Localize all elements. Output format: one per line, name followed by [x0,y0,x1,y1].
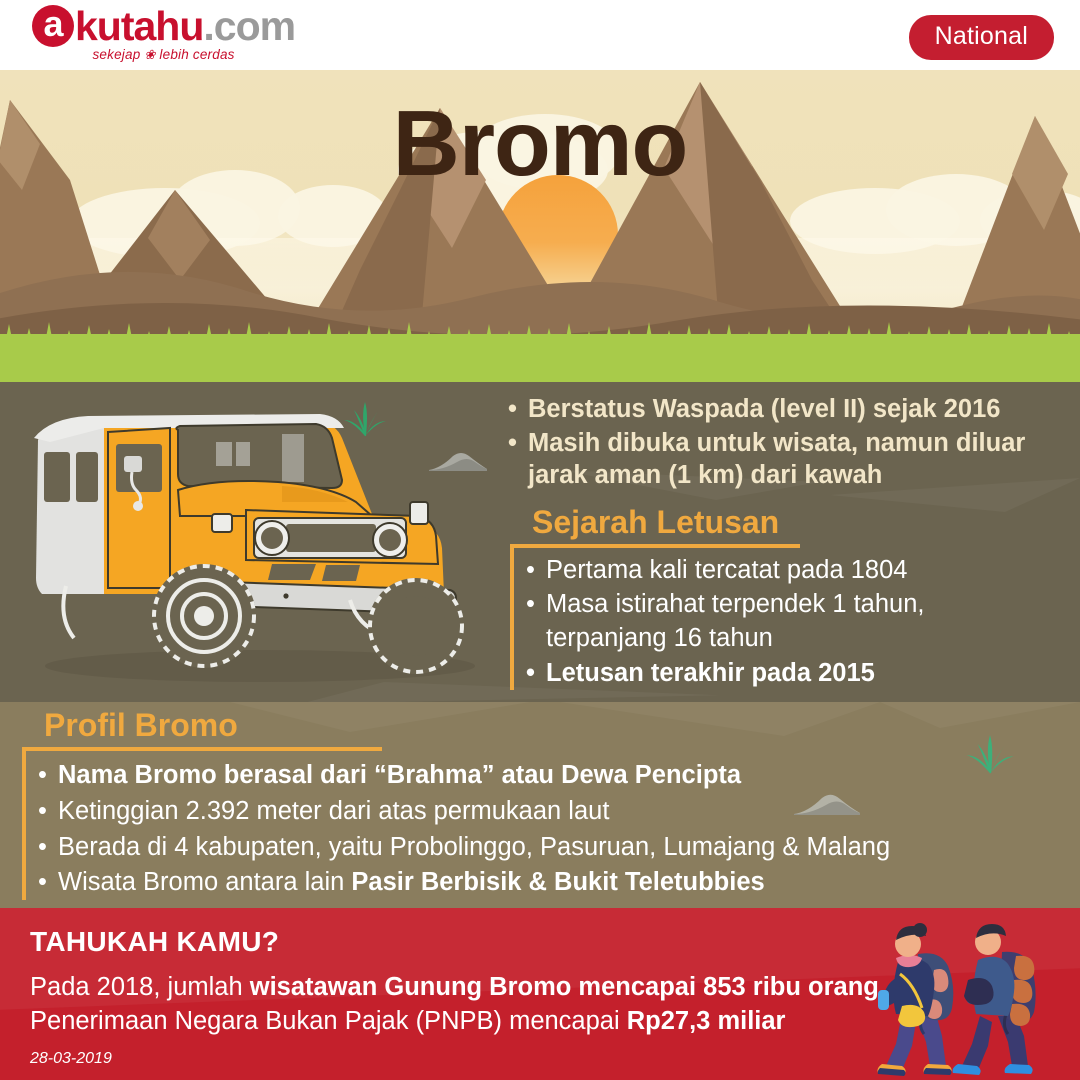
logo-name-grey: .com [203,3,295,50]
profil-item: • Berada di 4 kabupaten, yaitu Proboling… [38,831,382,865]
footer-text-part: Pada 2018, jumlah [30,973,250,1001]
publish-date: 28-03-2019 [30,1050,112,1068]
footer-text-part: Penerimaan Negara Bukan Pajak (PNPB) men… [30,1007,627,1035]
logo-a-mark: a [32,5,74,47]
footer-text-part-bold: wisatawan Gunung Bromo mencapai 853 ribu… [250,973,886,1001]
hiker-right [953,924,1036,1075]
tagline-right: lebih cerdas [159,47,234,62]
bullet-dot-icon: • [526,554,546,587]
hero-scene: Bromo [0,70,1080,382]
bullet-dot-icon: • [508,427,528,491]
profil-item-text: Nama Bromo berasal dari “Brahma” atau De… [58,759,741,793]
bullet-dot-icon: • [508,393,528,425]
sejarah-bullet-list: • Pertama kali tercatat pada 1804 • Masa… [510,544,800,690]
footer-heading: TAHUKAH KAMU? [30,926,279,958]
sejarah-item: • Letusan terakhir pada 2015 [526,657,800,690]
footer-fact-banner: TAHUKAH KAMU? Pada 2018, jumlah wisatawa… [0,908,1080,1080]
sejarah-item-continuation: terpanjang 16 tahun [526,622,800,655]
sejarah-item-text: Pertama kali tercatat pada 1804 [546,554,907,587]
sejarah-item: • Masa istirahat terpendek 1 tahun, [526,588,800,621]
bullet-dot-icon: • [38,795,58,829]
bullet-dot-icon: • [38,866,58,900]
sejarah-item-text: Letusan terakhir pada 2015 [546,657,875,690]
status-bullet-list: • Berstatus Waspada (level II) sejak 201… [508,393,1068,493]
jeep-illustration [20,398,490,688]
sejarah-item-text: terpanjang 16 tahun [546,622,773,655]
profil-item: • Nama Bromo berasal dari “Brahma” atau … [38,759,382,793]
bullet-dot-icon: • [38,759,58,793]
infographic-page: a kutahu .com sekejap ❀ lebih cerdas Nat… [0,0,1080,1080]
grass-strip [0,334,1080,382]
sejarah-item: • Pertama kali tercatat pada 1804 [526,554,800,587]
sejarah-item-text: Masa istirahat terpendek 1 tahun, [546,588,924,621]
profil-item-wrap: Wisata Bromo antara lain Pasir Berbisik … [58,866,765,900]
bullet-dot-icon: • [38,831,58,865]
status-bullet-text: Berstatus Waspada (level II) sejak 2016 [528,393,1000,425]
bullet-dot-icon: • [526,588,546,621]
bullet-spacer [526,622,546,655]
hiker-left [878,923,954,1076]
profil-section: Profil Bromo • Nama Bromo berasal dari “… [22,708,1022,902]
category-badge-national[interactable]: National [909,15,1054,60]
footer-text-part-bold: Rp27,3 miliar [627,1007,786,1035]
hikers-illustration [856,918,1066,1080]
logo-wordmark: a kutahu .com [32,4,295,48]
profil-item: • Wisata Bromo antara lain Pasir Berbisi… [38,866,382,900]
status-bullet-text: Masih dibuka untuk wisata, namun diluar … [528,427,1068,491]
profil-item-text: Wisata Bromo antara lain [58,868,351,896]
footer-body-text: Pada 2018, jumlah wisatawan Gunung Bromo… [30,970,930,1039]
profil-bullet-list: • Nama Bromo berasal dari “Brahma” atau … [22,747,382,900]
profil-item-text: Ketinggian 2.392 meter dari atas permuka… [58,795,609,829]
sejarah-section: Sejarah Letusan • Pertama kali tercatat … [510,505,1070,691]
profil-item: • Ketinggian 2.392 meter dari atas permu… [38,795,382,829]
profil-heading: Profil Bromo [44,708,1022,743]
status-bullet-item: • Berstatus Waspada (level II) sejak 201… [508,393,1068,425]
site-header: a kutahu .com sekejap ❀ lebih cerdas Nat… [0,0,1080,70]
page-title: Bromo [0,90,1080,197]
profil-item-text-bold: Pasir Berbisik & Bukit Teletubbies [351,868,764,896]
status-bullet-item: • Masih dibuka untuk wisata, namun dilua… [508,427,1068,491]
flower-icon: ❀ [144,47,155,62]
akutahu-logo[interactable]: a kutahu .com sekejap ❀ lebih cerdas [32,4,295,66]
logo-name-red: kutahu [75,3,203,50]
tagline-left: sekejap [92,47,140,62]
sejarah-heading: Sejarah Letusan [532,505,1070,540]
bullet-dot-icon: • [526,657,546,690]
profil-item-text: Berada di 4 kabupaten, yaitu Probolinggo… [58,831,890,865]
